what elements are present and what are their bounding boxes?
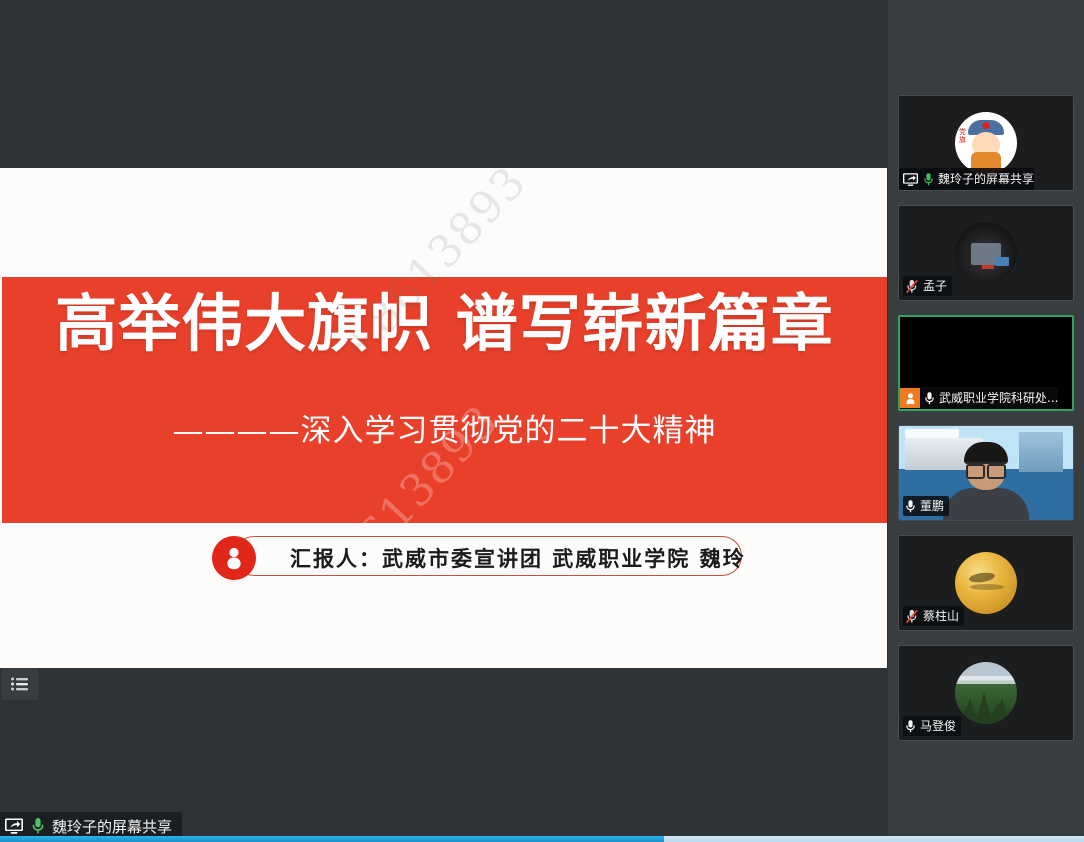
meeting-window: 高举伟大旗帜 谱写崭新篇章 ————深入学习贯彻党的二十大精神 +8613893… <box>0 0 1084 842</box>
screen-share-icon <box>902 172 919 187</box>
cartoon-soldier-avatar: 党旗 <box>955 112 1017 174</box>
microphone-muted-icon <box>905 609 919 624</box>
tile-label: 孟子 <box>903 276 952 296</box>
participant-tile-dongpeng[interactable]: 董鹏 <box>898 425 1074 521</box>
participant-tile-mengzi[interactable]: 孟子 <box>898 205 1074 301</box>
share-status-label: 魏玲子的屏幕共享 <box>52 816 172 837</box>
slide-title: 高举伟大旗帜 谱写崭新篇章 <box>2 291 887 356</box>
tile-label: 蔡柱山 <box>903 606 964 626</box>
person-badge-icon <box>212 536 256 580</box>
slide-subtitle: ————深入学习贯彻党的二十大精神 <box>2 405 887 450</box>
share-letterbox-top <box>0 0 888 168</box>
list-view-icon[interactable] <box>2 668 38 700</box>
screen-share-icon <box>4 817 24 835</box>
night-photo-avatar <box>955 222 1017 284</box>
tile-label: 武威职业学院科研处... <box>900 387 1058 409</box>
microphone-icon <box>31 817 45 835</box>
tile-label: 董鹏 <box>903 496 949 516</box>
slide-red-banner: 高举伟大旗帜 谱写崭新篇章 ————深入学习贯彻党的二十大精神 +8613893 <box>2 277 887 523</box>
forest-photo-avatar <box>955 662 1017 724</box>
share-letterbox-bottom <box>0 668 888 836</box>
tile-label: 魏玲子的屏幕共享 <box>899 168 1034 190</box>
participant-name: 董鹏 <box>920 500 944 512</box>
participant-list: 党旗 <box>888 0 1084 842</box>
participant-name: 马登俊 <box>920 720 956 732</box>
participant-tile-madengjun[interactable]: 马登俊 <box>898 645 1074 741</box>
participant-name: 魏玲子的屏幕共享 <box>938 173 1034 185</box>
microphone-icon <box>924 391 935 406</box>
participant-tile-active-speaker[interactable]: 武威职业学院科研处... <box>898 315 1074 411</box>
microphone-icon <box>905 499 916 514</box>
participant-tile-screenshare[interactable]: 党旗 <box>898 95 1074 191</box>
taskbar-sliver-right <box>664 836 1084 842</box>
tile-label: 马登俊 <box>903 716 961 736</box>
gold-sphere-avatar <box>955 552 1017 614</box>
participant-tile-caizhushan[interactable]: 蔡柱山 <box>898 535 1074 631</box>
participant-name: 武威职业学院科研处... <box>939 392 1058 404</box>
microphone-muted-icon <box>905 279 919 294</box>
participant-sidebar[interactable]: 党旗 <box>888 0 1084 842</box>
participant-name: 蔡柱山 <box>923 610 959 622</box>
person-icon <box>900 388 920 408</box>
shared-screen-region[interactable]: 高举伟大旗帜 谱写崭新篇章 ————深入学习贯彻党的二十大精神 +8613893… <box>0 0 888 842</box>
microphone-icon <box>923 172 934 187</box>
microphone-icon <box>905 719 916 734</box>
taskbar-sliver <box>0 836 1084 842</box>
presenter-text: 汇报人：武威市委宣讲团 武威职业学院 魏玲 <box>290 543 746 573</box>
presentation-slide: 高举伟大旗帜 谱写崭新篇章 ————深入学习贯彻党的二十大精神 +8613893… <box>0 168 887 668</box>
presenter-row: 汇报人：武威市委宣讲团 武威职业学院 魏玲 <box>212 536 742 576</box>
participant-name: 孟子 <box>923 280 947 292</box>
